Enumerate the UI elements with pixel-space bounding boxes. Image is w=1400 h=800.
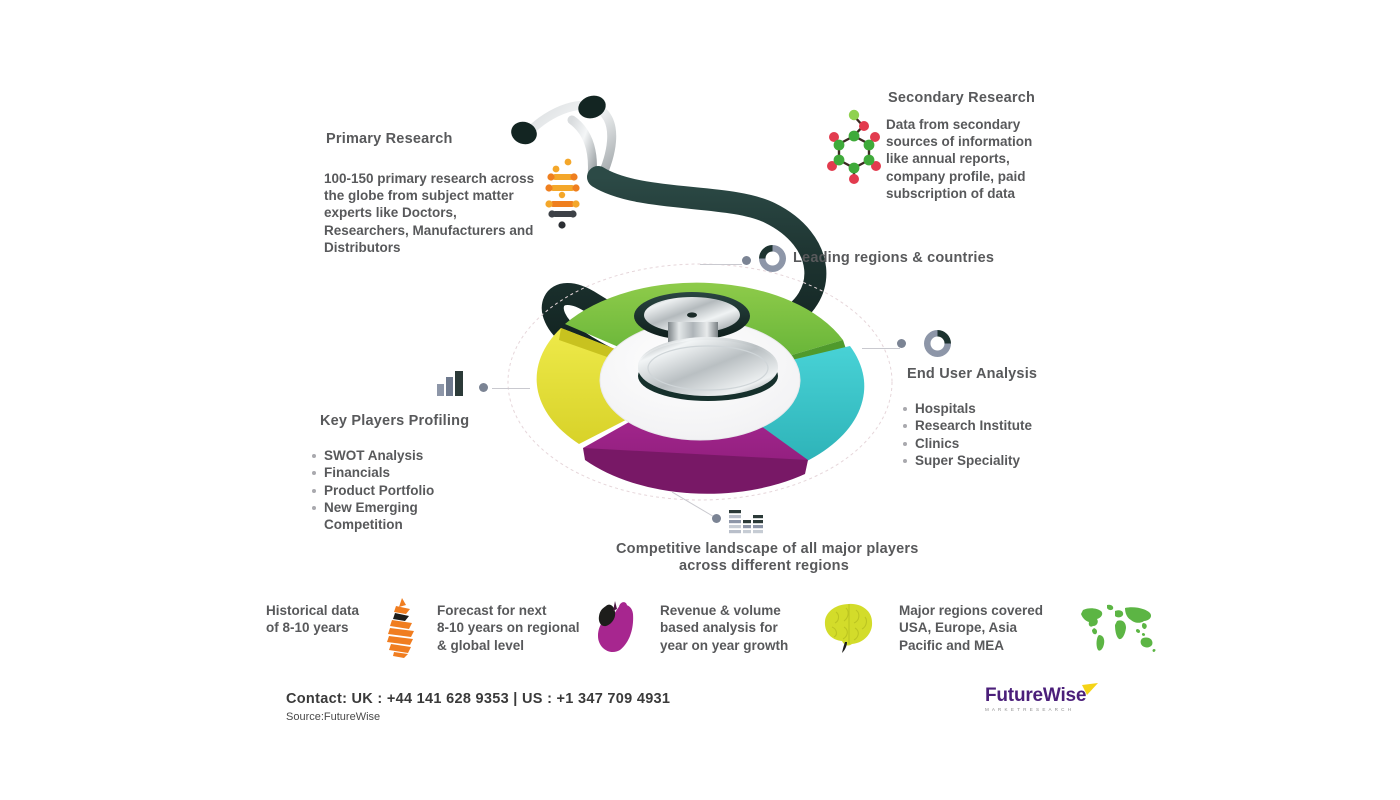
- competitive-landscape-line2: across different regions: [679, 558, 849, 574]
- list-item-continuation: Competition: [310, 516, 520, 533]
- brain-icon: [822, 601, 876, 653]
- stethoscope-chestpiece-icon: [620, 288, 800, 418]
- strip-item-historical: Historical data of 8-10 years: [266, 602, 359, 637]
- heart-icon: [592, 598, 638, 656]
- strip-item-regions: Major regions covered USA, Europe, Asia …: [899, 602, 1043, 654]
- secondary-research-heading: Secondary Research: [888, 90, 1035, 106]
- list-item: Research Institute: [901, 417, 1101, 434]
- secondary-research-body: Data from secondary sources of informati…: [886, 116, 1046, 202]
- end-user-connector: [862, 348, 900, 349]
- list-item: Financials: [310, 464, 520, 481]
- key-players-list: SWOT Analysis Financials Product Portfol…: [310, 447, 520, 533]
- segmented-circle-icon: [922, 328, 953, 359]
- end-user-dot: [897, 339, 906, 348]
- equalizer-icon: [729, 509, 763, 535]
- primary-research-heading: Primary Research: [326, 131, 453, 147]
- logo-arrow-icon: [1081, 682, 1099, 700]
- key-players-heading: Key Players Profiling: [320, 413, 469, 429]
- strip-text: Historical data of 8-10 years: [266, 602, 359, 637]
- molecule-icon: [823, 108, 885, 188]
- logo-wordmark: FutureWise: [985, 685, 1086, 706]
- world-map-icon: [1077, 602, 1157, 654]
- competitive-connector: [672, 492, 732, 524]
- list-item: Hospitals: [901, 400, 1101, 417]
- leading-regions-connector: [700, 264, 742, 265]
- end-user-analysis-heading: End User Analysis: [907, 366, 1037, 382]
- footer-source: Source:FutureWise: [286, 711, 380, 723]
- leading-regions-label: Leading regions & countries: [793, 250, 994, 266]
- list-item: Product Portfolio: [310, 482, 520, 499]
- strip-text: Major regions covered USA, Europe, Asia …: [899, 602, 1043, 654]
- bar-chart-icon: [436, 370, 466, 396]
- list-item: SWOT Analysis: [310, 447, 520, 464]
- strip-text: Revenue & volume based analysis for year…: [660, 602, 788, 654]
- footer-contact: Contact: UK : +44 141 628 9353 | US : +1…: [286, 691, 670, 707]
- key-players-connector: [492, 388, 530, 389]
- key-players-dot: [479, 383, 488, 392]
- list-item: New Emerging: [310, 499, 520, 516]
- logo-tagline: M A R K E T R E S E A R C H: [985, 707, 1085, 712]
- strip-item-revenue: Revenue & volume based analysis for year…: [660, 602, 788, 654]
- spine-icon: [382, 596, 420, 658]
- leading-regions-dot: [742, 256, 751, 265]
- competitive-landscape-line1: Competitive landscape of all major playe…: [616, 541, 919, 557]
- list-item: Clinics: [901, 435, 1101, 452]
- strip-item-forecast: Forecast for next 8-10 years on regional…: [437, 602, 580, 654]
- primary-research-body: 100-150 primary research across the glob…: [324, 170, 536, 256]
- segmented-circle-icon: [757, 243, 788, 274]
- list-item: Super Speciality: [901, 452, 1101, 469]
- competitive-dot: [712, 514, 721, 523]
- dna-helix-icon: [540, 157, 584, 237]
- end-user-analysis-list: Hospitals Research Institute Clinics Sup…: [901, 400, 1101, 469]
- infographic-canvas: Primary Research 100-150 primary researc…: [0, 0, 1400, 800]
- futurewise-logo: FutureWise M A R K E T R E S E A R C H: [985, 686, 1085, 716]
- strip-text: Forecast for next 8-10 years on regional…: [437, 602, 580, 654]
